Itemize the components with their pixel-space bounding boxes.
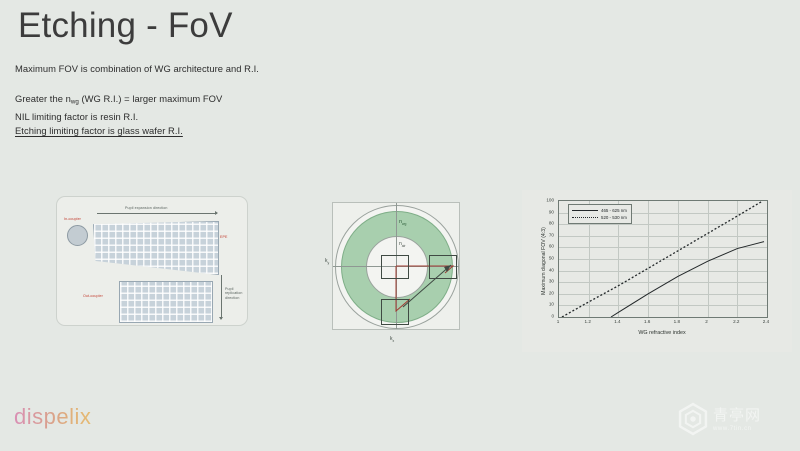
legend-entry-red-band: 465 - 625 nm xyxy=(572,207,627,214)
kspace-kx-axis-label: kx xyxy=(390,336,394,343)
legend-label-green-band: 520 - 530 nm xyxy=(601,215,627,220)
dispelix-logo: dispelix xyxy=(14,404,91,430)
legend-swatch-solid xyxy=(572,210,598,211)
pupil-replication-arrow xyxy=(221,275,222,319)
epe-label: EPE xyxy=(220,235,228,239)
body-line-2-subscript: wg xyxy=(71,99,79,106)
kspace-n-air-label: nair xyxy=(399,241,406,248)
body-text-block: Maximum FOV is combination of WG archite… xyxy=(15,63,535,139)
x-tick-label: 1.2 xyxy=(585,319,591,324)
kspace-ky-axis-label: ky xyxy=(325,258,329,265)
fov-chart-y-axis-label: Maximum diagonal FOV (4:3) xyxy=(541,203,547,319)
pupil-expansion-arrowhead xyxy=(215,211,218,215)
x-tick-label: 1.8 xyxy=(674,319,680,324)
kspace-fov-box-right xyxy=(429,255,457,279)
legend-swatch-dashed xyxy=(572,217,598,218)
legend-entry-green-band: 520 - 530 nm xyxy=(572,214,627,221)
body-line-2-suffix: (WG R.I.) = larger maximum FOV xyxy=(79,93,223,104)
page-title: Etching - FoV xyxy=(18,6,233,46)
x-tick-label: 1.4 xyxy=(614,319,620,324)
x-tick-label: 2.4 xyxy=(763,319,769,324)
fov-chart-figure: 11.21.41.61.822.22.4 0102030405060708090… xyxy=(522,190,792,352)
out-coupler-label: Out-coupler xyxy=(83,294,103,298)
waveguide-schematic-inner: Pupil expansion direction In-coupler EPE… xyxy=(57,197,247,325)
epe-grating-region xyxy=(93,221,219,275)
pupil-replication-label: Pupil replication direction xyxy=(225,287,245,300)
pupil-replication-label-text: Pupil replication direction xyxy=(225,287,242,300)
x-tick-label: 1.6 xyxy=(644,319,650,324)
pupil-replication-arrowhead xyxy=(219,317,223,320)
x-tick-label: 2 xyxy=(705,319,708,324)
fov-chart-x-axis-label: WG refractive index xyxy=(558,330,766,336)
kspace-n-wg-subscript: wg xyxy=(402,222,406,226)
x-tick-label: 2.2 xyxy=(733,319,739,324)
pupil-expansion-label: Pupil expansion direction xyxy=(125,206,167,210)
kspace-fov-box-bottom xyxy=(381,299,409,325)
in-coupler-region xyxy=(67,225,88,246)
site-watermark: 青亭网 www.7tin.cn xyxy=(676,394,788,444)
in-coupler-label: In-coupler xyxy=(64,217,81,221)
hexagon-logo-icon xyxy=(676,402,710,436)
fov-chart-legend: 465 - 625 nm 520 - 530 nm xyxy=(568,204,632,224)
chart-series-line-0 xyxy=(611,242,764,317)
body-line-3: NIL limiting factor is resin R.I. xyxy=(15,111,535,123)
kspace-ky-subscript: y xyxy=(328,261,330,265)
x-tick-label: 1 xyxy=(557,319,560,324)
body-line-2: Greater the nwg (WG R.I.) = larger maxim… xyxy=(15,93,535,109)
pupil-expansion-arrow xyxy=(97,213,217,214)
waveguide-schematic-figure: Pupil expansion direction In-coupler EPE… xyxy=(56,196,248,326)
kspace-fov-box-center xyxy=(381,255,409,279)
kspace-diagram-figure: nwg nair ky kx xyxy=(326,196,472,348)
body-line-2-prefix: Greater the n xyxy=(15,93,71,104)
watermark-text-group: 青亭网 www.7tin.cn xyxy=(713,407,761,432)
body-line-1: Maximum FOV is combination of WG archite… xyxy=(15,63,535,75)
kspace-frame: nwg nair xyxy=(332,202,460,330)
out-coupler-grating-region xyxy=(119,281,213,323)
watermark-site-name: 青亭网 xyxy=(713,407,761,424)
legend-label-red-band: 465 - 625 nm xyxy=(601,208,627,213)
watermark-site-url: www.7tin.cn xyxy=(713,426,761,432)
body-line-4-underlined: Etching limiting factor is glass wafer R… xyxy=(15,125,535,137)
kspace-n-air-subscript: air xyxy=(402,244,406,248)
y-tick-label: 100 xyxy=(540,198,554,203)
slide-canvas: Etching - FoV Maximum FOV is combination… xyxy=(0,0,800,451)
kspace-n-wg-label: nwg xyxy=(399,219,406,226)
kspace-kx-subscript: x xyxy=(393,339,395,343)
body-spacer xyxy=(15,77,535,93)
